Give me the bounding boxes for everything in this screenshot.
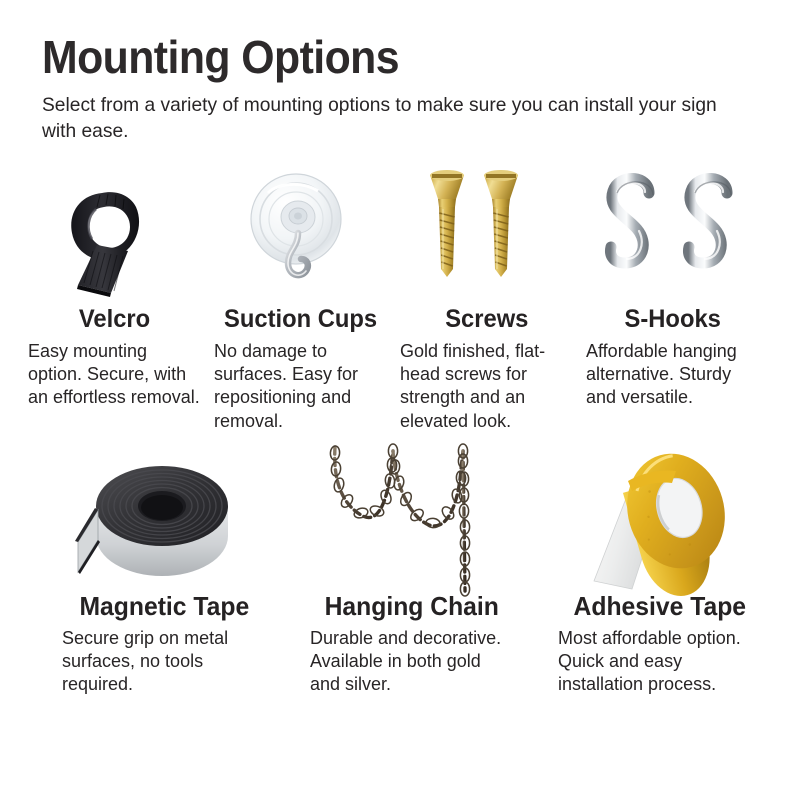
page-subtitle: Select from a variety of mounting option… bbox=[42, 93, 722, 145]
option-title: Velcro bbox=[79, 306, 150, 334]
option-description: Durable and decorative. Available in bot… bbox=[288, 627, 503, 697]
option-description: Easy mounting option. Secure, with an ef… bbox=[22, 340, 200, 410]
option-description: Most affordable option. Quick and easy i… bbox=[536, 627, 751, 697]
hanging-chain-icon bbox=[288, 448, 536, 590]
velcro-strap-icon bbox=[22, 158, 208, 300]
option-card-adhesive-tape[interactable]: Adhesive Tape Most affordable option. Qu… bbox=[536, 448, 784, 697]
option-title: Magnetic Tape bbox=[79, 592, 249, 621]
option-title: Suction Cups bbox=[224, 306, 377, 334]
adhesive-tape-roll-icon bbox=[536, 448, 784, 590]
page-header: Mounting Options Select from a variety o… bbox=[42, 34, 762, 145]
option-description: Secure grip on metal surfaces, no tools … bbox=[40, 627, 255, 697]
mounting-options-row-one: Velcro Easy mounting option. Secure, wit… bbox=[0, 158, 804, 433]
magnetic-tape-roll-icon bbox=[40, 448, 288, 590]
mounting-options-page: Mounting Options Select from a variety o… bbox=[0, 0, 804, 804]
option-description: Gold finished, flat-head screws for stre… bbox=[394, 340, 572, 434]
s-hooks-icon bbox=[580, 158, 766, 300]
option-card-hanging-chain[interactable]: Hanging Chain Durable and decorative. Av… bbox=[288, 448, 536, 697]
option-card-screws[interactable]: Screws Gold finished, flat-head screws f… bbox=[394, 158, 580, 433]
option-card-suction-cups[interactable]: Suction Cups No damage to surfaces. Easy… bbox=[208, 158, 394, 433]
option-title: Hanging Chain bbox=[325, 592, 499, 621]
option-title: Adhesive Tape bbox=[574, 592, 747, 621]
mounting-options-row-two: Magnetic Tape Secure grip on metal surfa… bbox=[0, 448, 804, 697]
option-card-magnetic-tape[interactable]: Magnetic Tape Secure grip on metal surfa… bbox=[40, 448, 288, 697]
suction-cup-hook-icon bbox=[208, 158, 394, 300]
page-title: Mounting Options bbox=[42, 34, 712, 80]
option-description: No damage to surfaces. Easy for repositi… bbox=[208, 340, 386, 434]
brass-screws-icon bbox=[394, 158, 580, 300]
option-card-s-hooks[interactable]: S-Hooks Affordable hanging alternative. … bbox=[580, 158, 766, 433]
option-title: S-Hooks bbox=[625, 306, 721, 334]
option-description: Affordable hanging alternative. Sturdy a… bbox=[580, 340, 758, 410]
option-title: Screws bbox=[445, 306, 528, 334]
option-card-velcro[interactable]: Velcro Easy mounting option. Secure, wit… bbox=[22, 158, 208, 433]
